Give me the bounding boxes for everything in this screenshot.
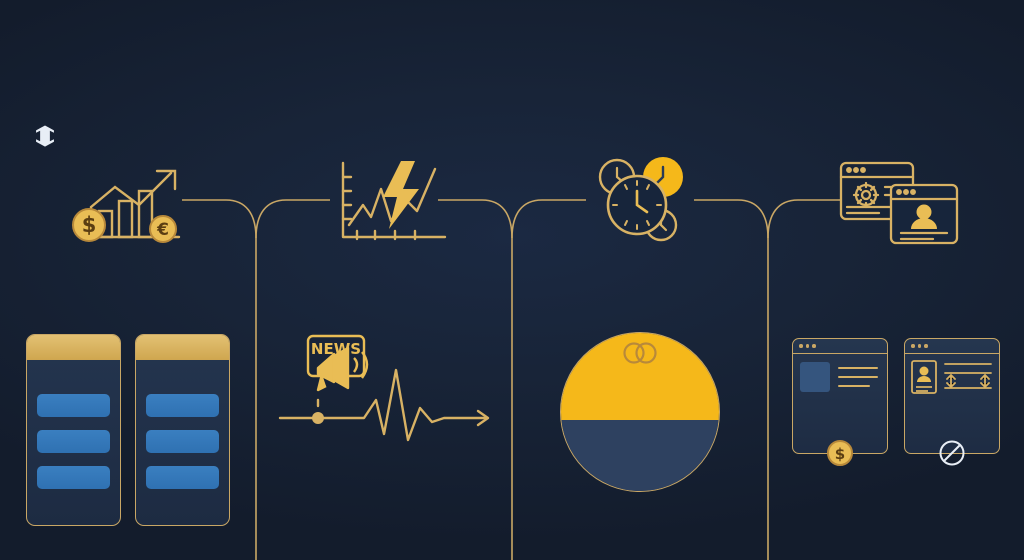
news-label: NEWS: [311, 340, 361, 358]
window-dot-icon: [911, 344, 915, 348]
account-ecn: $: [792, 332, 888, 532]
dollar-coin-icon: $: [73, 209, 105, 241]
trading-hours-pie-chart: [560, 332, 720, 492]
growth-chart-coins-icon: $ €: [0, 156, 256, 250]
column-volatility: NEWS: [256, 152, 512, 560]
infographic-root: $ €: [0, 0, 1024, 560]
pair-card-exotic[interactable]: [135, 334, 230, 526]
news-spike-graphic: NEWS: [256, 330, 512, 460]
pie-body: [560, 332, 720, 492]
svg-text:$: $: [835, 445, 845, 463]
pair-symbol: [27, 360, 120, 390]
spread-bar: [37, 394, 110, 417]
clocks-icon: [512, 156, 768, 250]
window-dot-icon: [812, 344, 816, 348]
spread-bar: [146, 430, 219, 453]
spread-bar: [37, 430, 110, 453]
brand-logo: [0, 118, 58, 154]
pivot-dot: [312, 412, 324, 424]
volatility-lightning-chart-icon: [256, 156, 512, 250]
spread-bars: [27, 390, 120, 489]
account-card-standard[interactable]: [904, 338, 1000, 454]
column-liquidity: $ €: [0, 152, 256, 560]
no-fee-slash-icon: [937, 438, 967, 468]
pie-slice-nights: [561, 420, 719, 491]
window-dot-icon: [806, 344, 810, 348]
card-titlebar: [905, 339, 999, 354]
overlap-circles-icon: [561, 341, 719, 365]
card-titlebar: [793, 339, 887, 354]
account-card-ecn[interactable]: [792, 338, 888, 454]
window-dot-icon: [799, 344, 803, 348]
column-account-broker: $: [768, 152, 1024, 560]
hexagon-logo-icon: [32, 123, 58, 149]
svg-text:€: €: [156, 220, 169, 240]
window-dot-icon: [918, 344, 922, 348]
window-dot-icon: [924, 344, 928, 348]
windows-gear-user-icon: [768, 156, 1024, 250]
spread-bar: [146, 466, 219, 489]
dollar-coin-icon: $: [825, 438, 855, 468]
euro-coin-icon: €: [150, 216, 176, 242]
raw-spread-graphic: [792, 354, 887, 410]
account-standard: [904, 332, 1000, 532]
currency-pair-cards: [0, 334, 256, 549]
pair-card-header: [136, 335, 229, 360]
account-cards: $: [768, 332, 1024, 532]
spread-bar: [37, 466, 110, 489]
higher-spread-graphic: [904, 354, 999, 410]
header: [0, 0, 1024, 152]
column-trading-hours: [512, 152, 768, 560]
columns-container: $ €: [0, 152, 1024, 560]
svg-text:$: $: [82, 213, 97, 237]
pair-symbol: [136, 360, 229, 390]
spread-bar: [146, 394, 219, 417]
pair-card-header: [27, 335, 120, 360]
spread-bars: [136, 390, 229, 489]
pair-card-major[interactable]: [26, 334, 121, 526]
